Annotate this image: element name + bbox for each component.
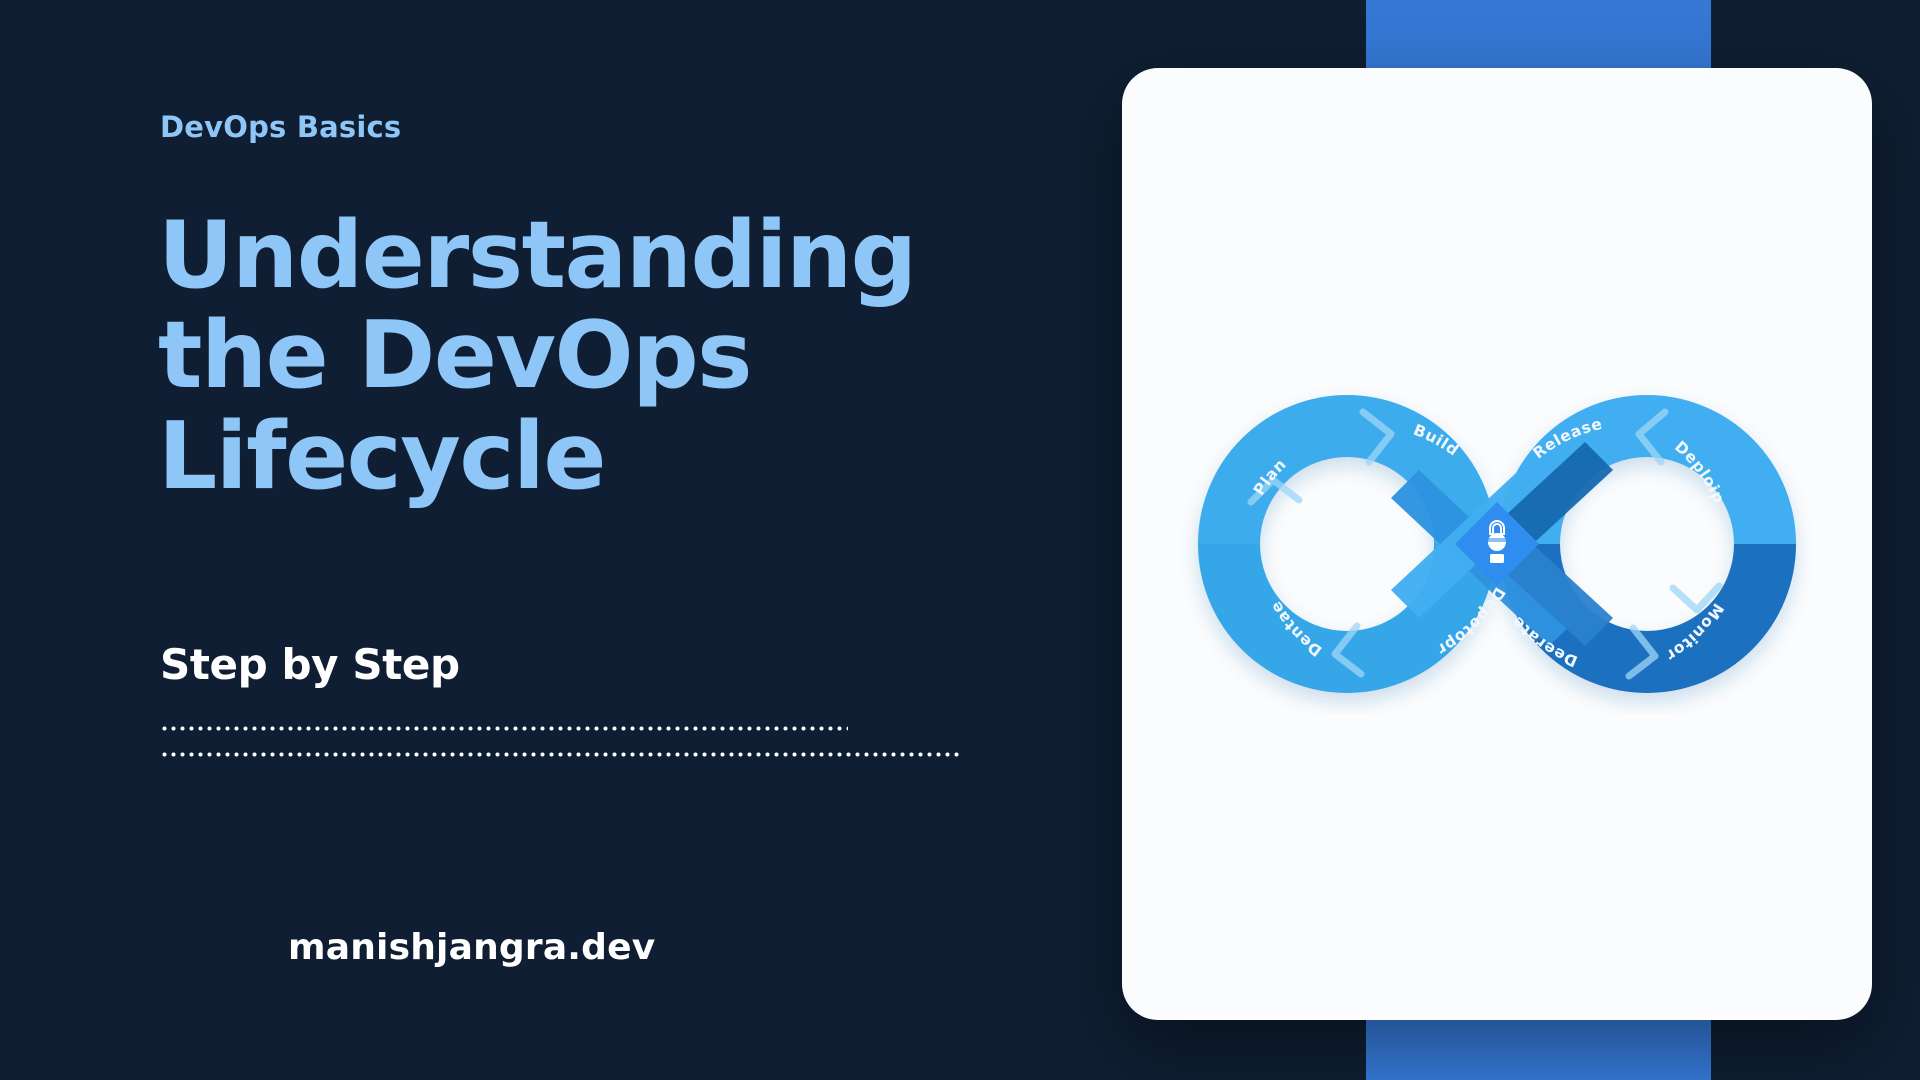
devops-infinity-diagram: Plan Build Depotopr Dentae Release Deplo… xyxy=(1177,374,1817,714)
eyebrow-label: DevOps Basics xyxy=(160,110,401,144)
site-url: manishjangra.dev xyxy=(288,927,655,968)
slide-canvas: DevOps Basics Understanding the DevOps L… xyxy=(0,0,1920,1080)
headline-line-3: Lifecycle xyxy=(158,406,1038,506)
diagram-card: Plan Build Depotopr Dentae Release Deplo… xyxy=(1122,68,1872,1020)
headline-line-2: the DevOps xyxy=(158,305,1038,405)
dotted-divider-top xyxy=(160,726,848,731)
left-loop-group xyxy=(1229,426,1465,662)
text-column: DevOps Basics Understanding the DevOps L… xyxy=(160,0,1020,1080)
subheading: Step by Step xyxy=(160,640,460,689)
page-title: Understanding the DevOps Lifecycle xyxy=(158,205,1038,506)
dotted-divider-bottom xyxy=(160,752,960,757)
headline-line-1: Understanding xyxy=(158,205,1038,305)
dotted-divider-group xyxy=(160,726,1020,757)
